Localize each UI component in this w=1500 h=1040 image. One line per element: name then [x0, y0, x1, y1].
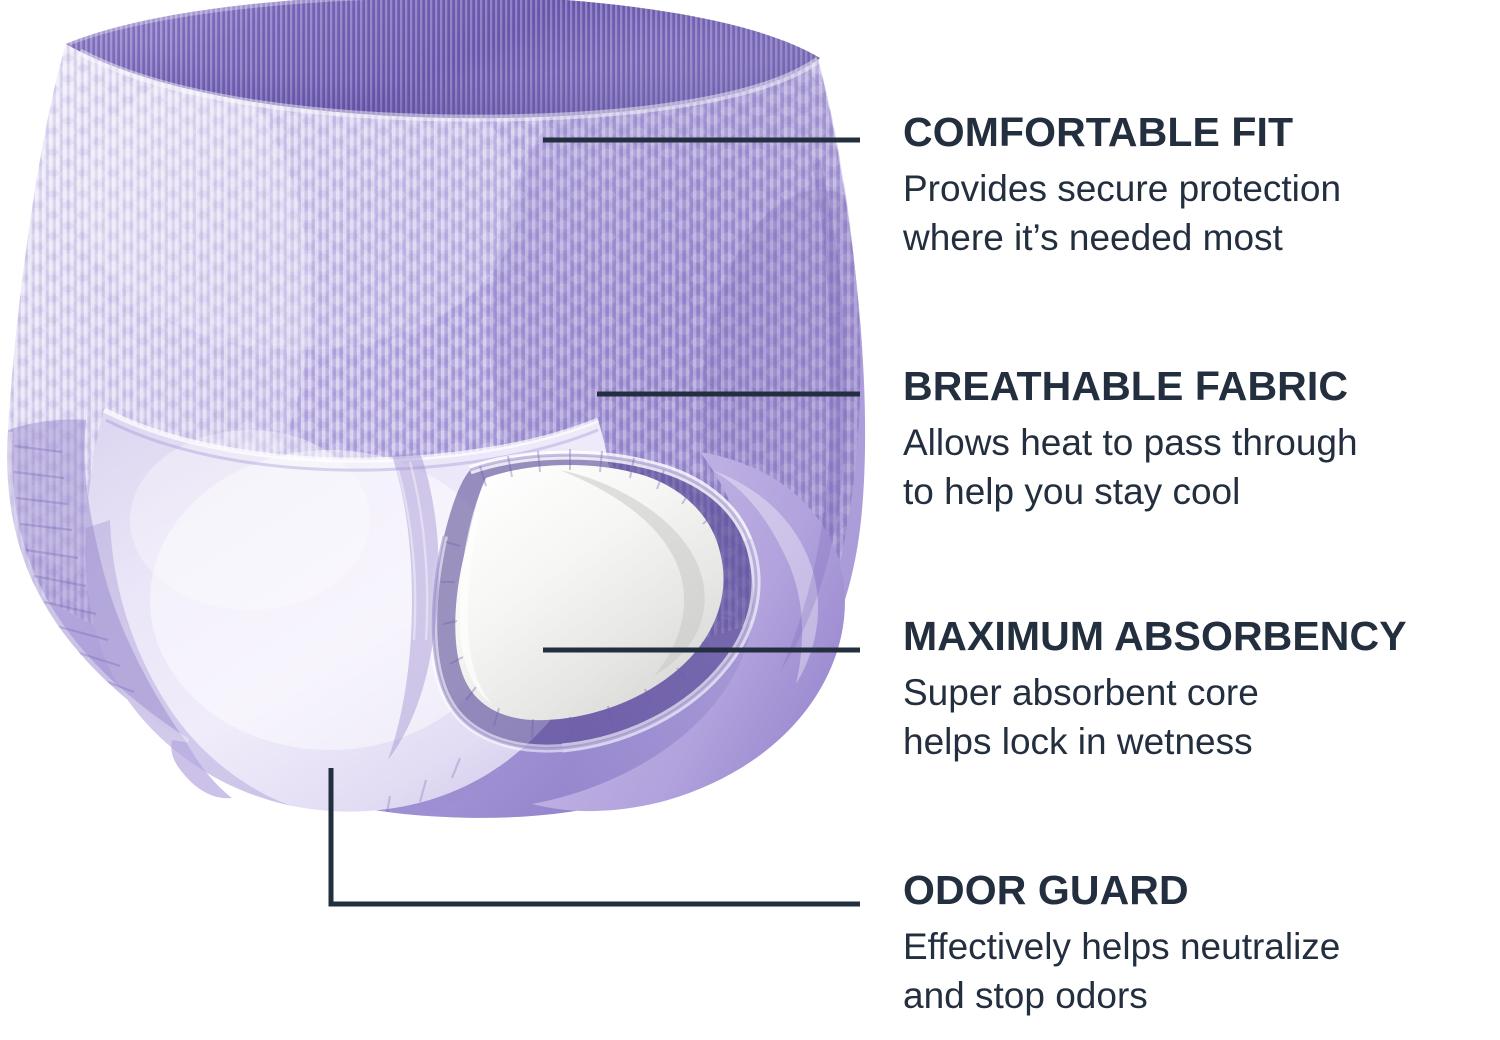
callout-body-line: Super absorbent core	[903, 669, 1500, 718]
callout-body-line: Effectively helps neutralize	[903, 923, 1500, 972]
callout-body: Allows heat to pass through to help you …	[903, 419, 1500, 517]
callout-body-line: helps lock in wetness	[903, 718, 1500, 767]
callout-heading: COMFORTABLE FIT	[903, 112, 1500, 153]
callout-maximum-absorbency: MAXIMUM ABSORBENCY Super absorbent core …	[903, 616, 1500, 767]
callout-comfortable-fit: COMFORTABLE FIT Provides secure protecti…	[903, 112, 1500, 263]
callout-heading: BREATHABLE FABRIC	[903, 366, 1500, 407]
callout-body-line: to help you stay cool	[903, 468, 1500, 517]
infographic-canvas: COMFORTABLE FIT Provides secure protecti…	[0, 0, 1500, 1040]
product-image	[0, 0, 880, 860]
callout-body-line: Allows heat to pass through	[903, 419, 1500, 468]
callout-heading: MAXIMUM ABSORBENCY	[903, 616, 1500, 657]
callout-breathable-fabric: BREATHABLE FABRIC Allows heat to pass th…	[903, 366, 1500, 517]
callout-odor-guard: ODOR GUARD Effectively helps neutralize …	[903, 870, 1500, 1021]
callout-heading: ODOR GUARD	[903, 870, 1500, 911]
callout-body-line: Provides secure protection	[903, 165, 1500, 214]
callout-body-line: where it’s needed most	[903, 214, 1500, 263]
callout-body-line: and stop odors	[903, 972, 1500, 1021]
callout-body: Provides secure protection where it’s ne…	[903, 165, 1500, 263]
callout-body: Effectively helps neutralize and stop od…	[903, 923, 1500, 1021]
callout-body: Super absorbent core helps lock in wetne…	[903, 669, 1500, 767]
